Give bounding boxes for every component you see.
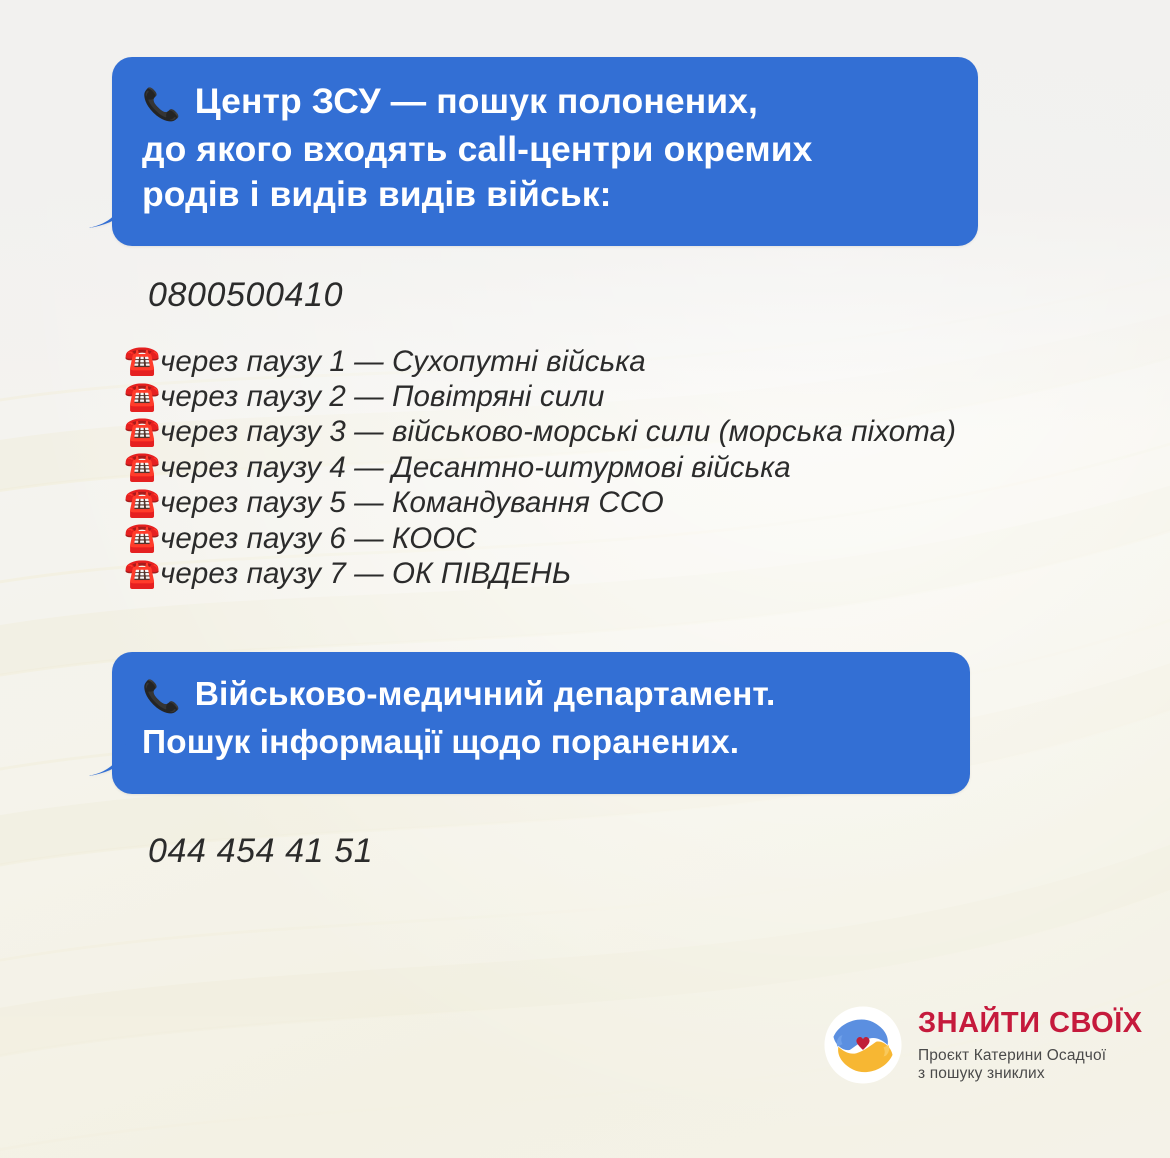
speech-bubble-tail-icon — [86, 192, 126, 232]
telephone-receiver-icon: 📞 — [142, 87, 181, 122]
red-telephone-icon: ☎️ — [124, 557, 160, 592]
poster-canvas: 📞Центр ЗСУ — пошук полонених, до якого в… — [0, 0, 1170, 1158]
bubble-primary-line-3: родів і видів видів військ: — [142, 172, 952, 217]
bubble-secondary-text-1: Військово-медичний департамент. — [195, 676, 776, 713]
extension-list: ☎️ через паузу 1 — Сухопутні війська ☎️ … — [124, 344, 1084, 592]
speech-bubble-secondary: 📞Військово-медичний департамент. Пошук і… — [112, 652, 970, 794]
red-telephone-icon: ☎️ — [124, 486, 160, 521]
list-item: ☎️ через паузу 4 — Десантно-штурмові вій… — [124, 450, 1084, 485]
list-item-label: через паузу 7 — ОК ПІВДЕНЬ — [160, 557, 571, 591]
list-item: ☎️ через паузу 3 — військово-морські сил… — [124, 415, 1084, 450]
red-telephone-icon: ☎️ — [124, 344, 160, 379]
speech-bubble-primary: 📞Центр ЗСУ — пошук полонених, до якого в… — [112, 57, 978, 246]
brand-title: ЗНАЙТИ СВОЇХ — [918, 1009, 1143, 1038]
bubble-secondary-line-2: Пошук інформації щодо поранених. — [142, 720, 944, 766]
speech-bubble-tail-icon — [86, 740, 126, 780]
phone-number-medical-department[interactable]: 044 454 41 51 — [148, 832, 373, 871]
list-item-label: через паузу 5 — Командування ССО — [160, 486, 664, 520]
list-item-label: через паузу 6 — КООС — [160, 522, 477, 556]
telephone-receiver-icon: 📞 — [142, 679, 181, 714]
list-item-label: через паузу 2 — Повітряні сили — [160, 380, 604, 414]
brand-subtitle-line-1: Проєкт Катерини Осадчої — [918, 1048, 1143, 1064]
bubble-primary-line-1: 📞Центр ЗСУ — пошук полонених, — [142, 79, 952, 127]
brand-logo-text: ЗНАЙТИ СВОЇХ Проєкт Катерини Осадчої з п… — [918, 1009, 1143, 1082]
red-telephone-icon: ☎️ — [124, 380, 160, 415]
brand-subtitle-line-2: з пошуку зниклих — [918, 1066, 1143, 1082]
bubble-primary-line-2: до якого входять call-центри окремих — [142, 127, 952, 172]
bubble-secondary-line-1: 📞Військово-медичний департамент. — [142, 672, 944, 720]
list-item-label: через паузу 3 — військово-морські сили (… — [160, 415, 956, 449]
list-item: ☎️ через паузу 7 — ОК ПІВДЕНЬ — [124, 556, 1084, 591]
list-item: ☎️ через паузу 2 — Повітряні сили — [124, 379, 1084, 414]
red-telephone-icon: ☎️ — [124, 521, 160, 556]
list-item: ☎️ через паузу 1 — Сухопутні війська — [124, 344, 1084, 379]
list-item: ☎️ через паузу 6 — КООС — [124, 521, 1084, 556]
red-telephone-icon: ☎️ — [124, 415, 160, 450]
brand-logo[interactable]: ЗНАЙТИ СВОЇХ Проєкт Катерини Осадчої з п… — [822, 1004, 1143, 1086]
list-item-label: через паузу 4 — Десантно-штурмові військ… — [160, 451, 791, 485]
red-telephone-icon: ☎️ — [124, 450, 160, 485]
phone-number-center-zsu[interactable]: 0800500410 — [148, 276, 343, 315]
bubble-primary-text-1: Центр ЗСУ — пошук полонених, — [195, 81, 758, 121]
hands-heart-circle-icon — [822, 1004, 904, 1086]
list-item-label: через паузу 1 — Сухопутні війська — [160, 345, 646, 379]
list-item: ☎️ через паузу 5 — Командування ССО — [124, 486, 1084, 521]
